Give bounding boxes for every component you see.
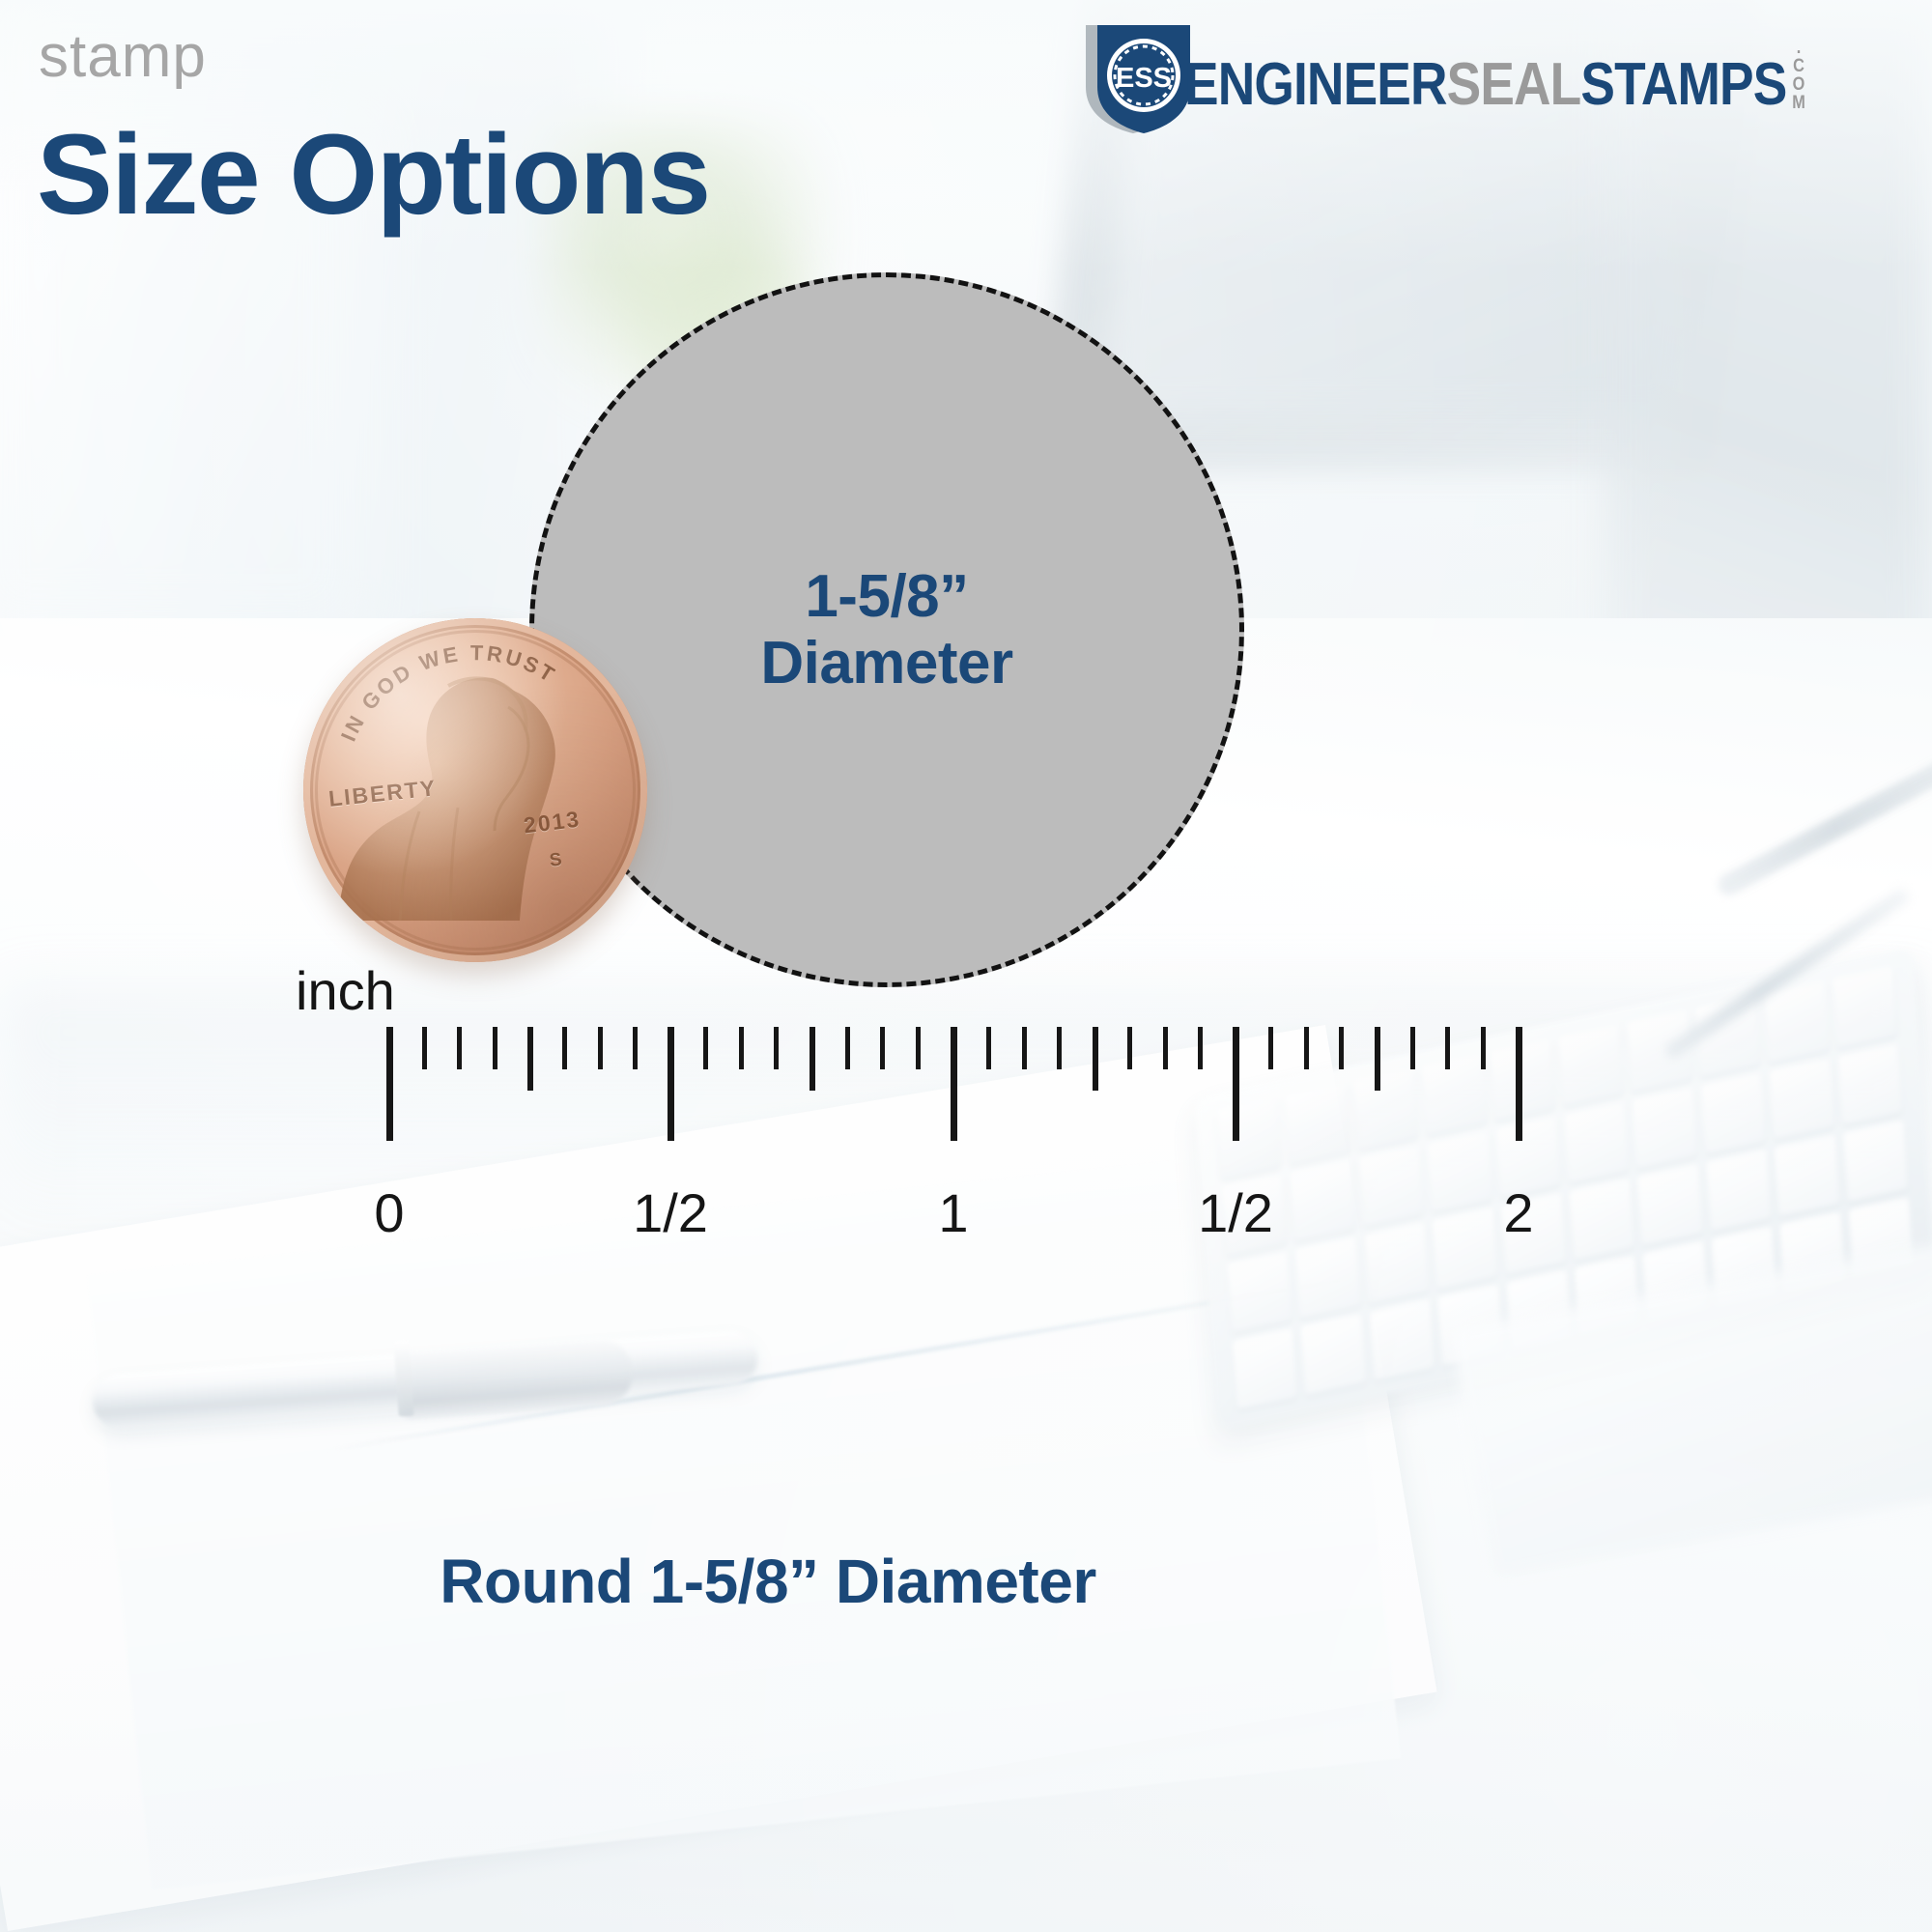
svg-text:ESS: ESS	[1116, 63, 1172, 94]
eyebrow-label: stamp	[39, 27, 207, 87]
logo-word-dotcom: .COM	[1792, 38, 1806, 111]
logo-wordmark: ENGINEER SEAL STAMPS .COM	[1184, 38, 1805, 115]
penny-reference-coin: IN GOD WE TRUST LIBERTY 2013 S	[303, 618, 647, 962]
size-caption: Round 1-5/8” Diameter	[0, 1546, 1536, 1617]
penny-gloss	[303, 618, 647, 962]
size-swatch-line-2: Diameter	[760, 630, 1012, 696]
logo-word-seal: SEAL	[1447, 55, 1581, 115]
ess-badge-icon: ESS	[1076, 19, 1190, 133]
logo-word-engineer: ENGINEER	[1184, 55, 1447, 115]
size-swatch-line-1: 1-5/8”	[805, 563, 968, 630]
brand-logo[interactable]: ESS ENGINEER SEAL STAMPS .COM	[1076, 19, 1907, 133]
logo-word-stamps: STAMPS	[1580, 55, 1786, 115]
size-options-graphic: stamp Size Options ESS ENGINEER SEAL	[0, 0, 1932, 1932]
background-paper-sheet-2	[87, 1144, 1401, 1889]
page-title: Size Options	[37, 118, 710, 232]
